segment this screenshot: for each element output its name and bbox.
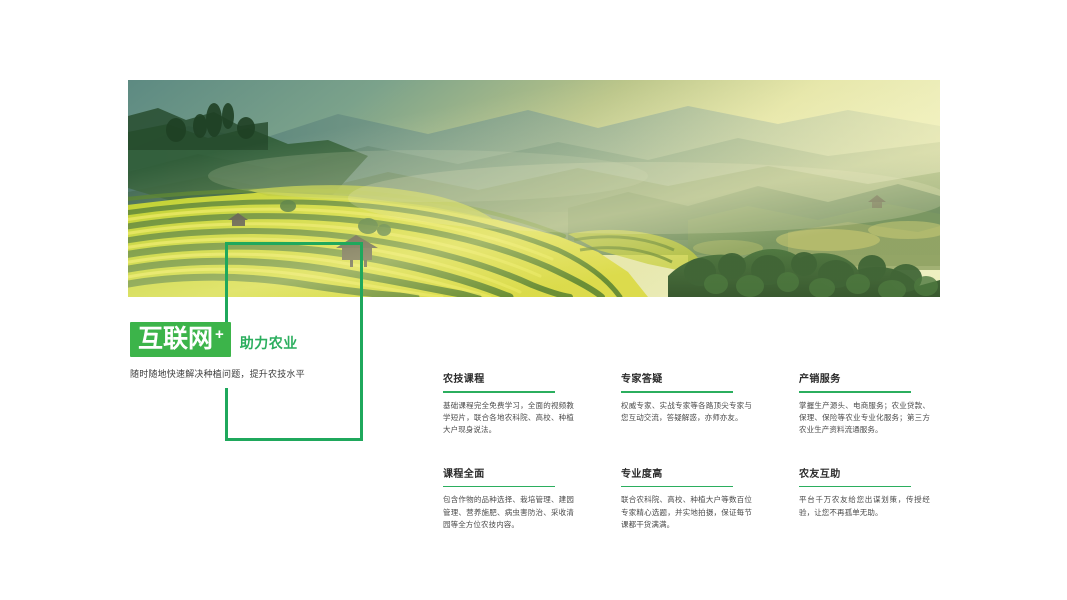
- brand-tagline: 助力农业: [240, 333, 298, 357]
- feature-description: 掌握生产源头、电商服务；农业贷款、保理、保险等农业专业化服务；第三方农业生产资料…: [799, 400, 930, 436]
- feature-card-nongji-kecheng: 农技课程 基础课程完全免费学习，全面的视频教学短片，联合各地农科院、高校、种植大…: [443, 370, 574, 436]
- feature-title: 专家答疑: [621, 370, 752, 385]
- feature-underline: [799, 486, 911, 488]
- feature-card-zhuanyedu-gao: 专业度高 联合农科院、高校、种植大户等数百位专家精心选题，并实地拍摄，保证每节课…: [621, 465, 752, 531]
- plus-icon: +: [215, 327, 224, 342]
- feature-underline: [621, 486, 733, 488]
- feature-underline: [443, 486, 555, 488]
- feature-description: 平台千万农友给您出谋划策，传授经验，让您不再孤单无助。: [799, 494, 930, 518]
- feature-title: 产销服务: [799, 370, 930, 385]
- feature-description: 联合农科院、高校、种植大户等数百位专家精心选题，并实地拍摄，保证每节课都干货满满…: [621, 494, 752, 530]
- hero-banner: [128, 80, 940, 297]
- terraced-rice-field-image: [128, 80, 940, 297]
- feature-title: 农技课程: [443, 370, 574, 385]
- feature-title: 课程全面: [443, 465, 574, 480]
- internet-plus-logo: 互联网 +: [130, 322, 231, 357]
- feature-underline: [799, 391, 911, 393]
- brand-subtitle: 随时随地快速解决种植问题，提升农技水平: [130, 367, 380, 380]
- feature-description: 基础课程完全免费学习，全面的视频教学短片，联合各地农科院、高校、种植大户现身说法…: [443, 400, 574, 436]
- feature-card-kecheng-quanmian: 课程全面 包含作物的品种选择、栽培管理、建园管理、营养施肥、病虫害防治、采收清园…: [443, 465, 574, 531]
- feature-card-zhuanjia-dayi: 专家答疑 权威专家、实战专家等各路顶尖专家与您互动交流，答疑解惑，亦师亦友。: [621, 370, 752, 436]
- feature-description: 包含作物的品种选择、栽培管理、建园管理、营养施肥、病虫害防治、采收清园等全方位农…: [443, 494, 574, 530]
- frame-edge-bottom: [225, 438, 363, 441]
- brand-block: 互联网 + 助力农业 随时随地快速解决种植问题，提升农技水平: [130, 322, 380, 380]
- feature-underline: [621, 391, 733, 393]
- feature-title: 农友互助: [799, 465, 930, 480]
- feature-title: 专业度高: [621, 465, 752, 480]
- feature-card-nongyou-huzhu: 农友互助 平台千万农友给您出谋划策，传授经验，让您不再孤单无助。: [799, 465, 930, 531]
- brand-title-row: 互联网 + 助力农业: [130, 322, 380, 357]
- feature-underline: [443, 391, 555, 393]
- feature-grid: 农技课程 基础课程完全免费学习，全面的视频教学短片，联合各地农科院、高校、种植大…: [443, 370, 943, 531]
- feature-card-chanxiao-fuwu: 产销服务 掌握生产源头、电商服务；农业贷款、保理、保险等农业专业化服务；第三方农…: [799, 370, 930, 436]
- feature-description: 权威专家、实战专家等各路顶尖专家与您互动交流，答疑解惑，亦师亦友。: [621, 400, 752, 424]
- frame-edge-left-lower: [225, 388, 228, 441]
- logo-word-text: 互联网: [138, 326, 213, 352]
